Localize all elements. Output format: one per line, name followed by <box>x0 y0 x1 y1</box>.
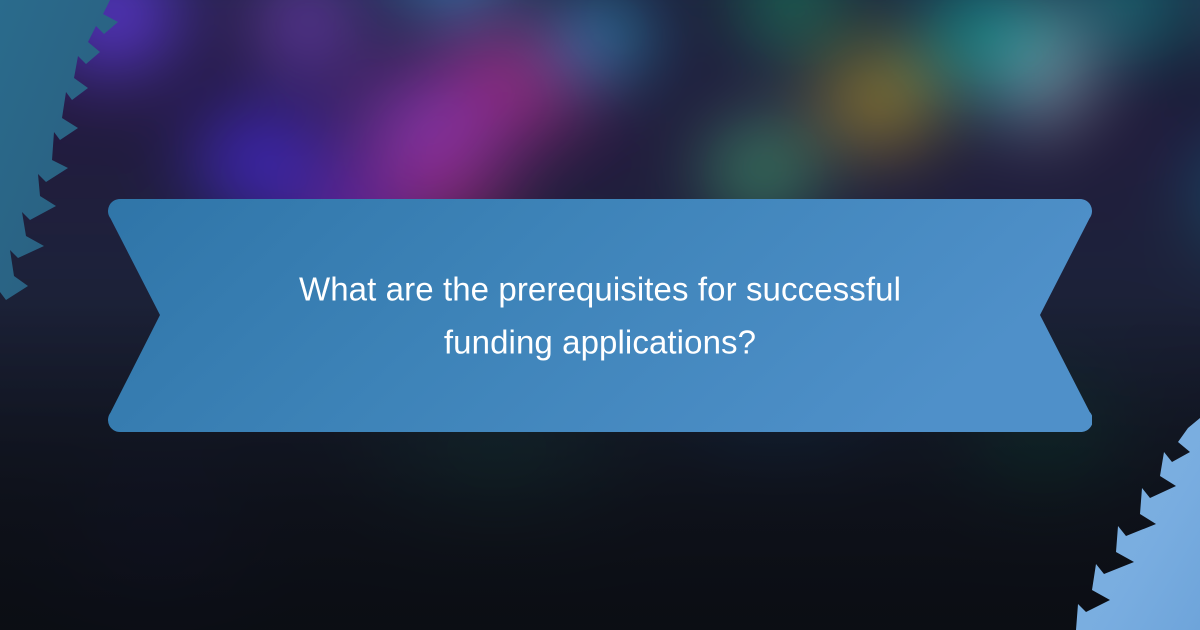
question-banner: What are the prerequisites for successfu… <box>108 199 1092 432</box>
screenshot-canvas: What are the prerequisites for successfu… <box>0 0 1200 630</box>
banner-question-text: What are the prerequisites for successfu… <box>180 262 1020 369</box>
